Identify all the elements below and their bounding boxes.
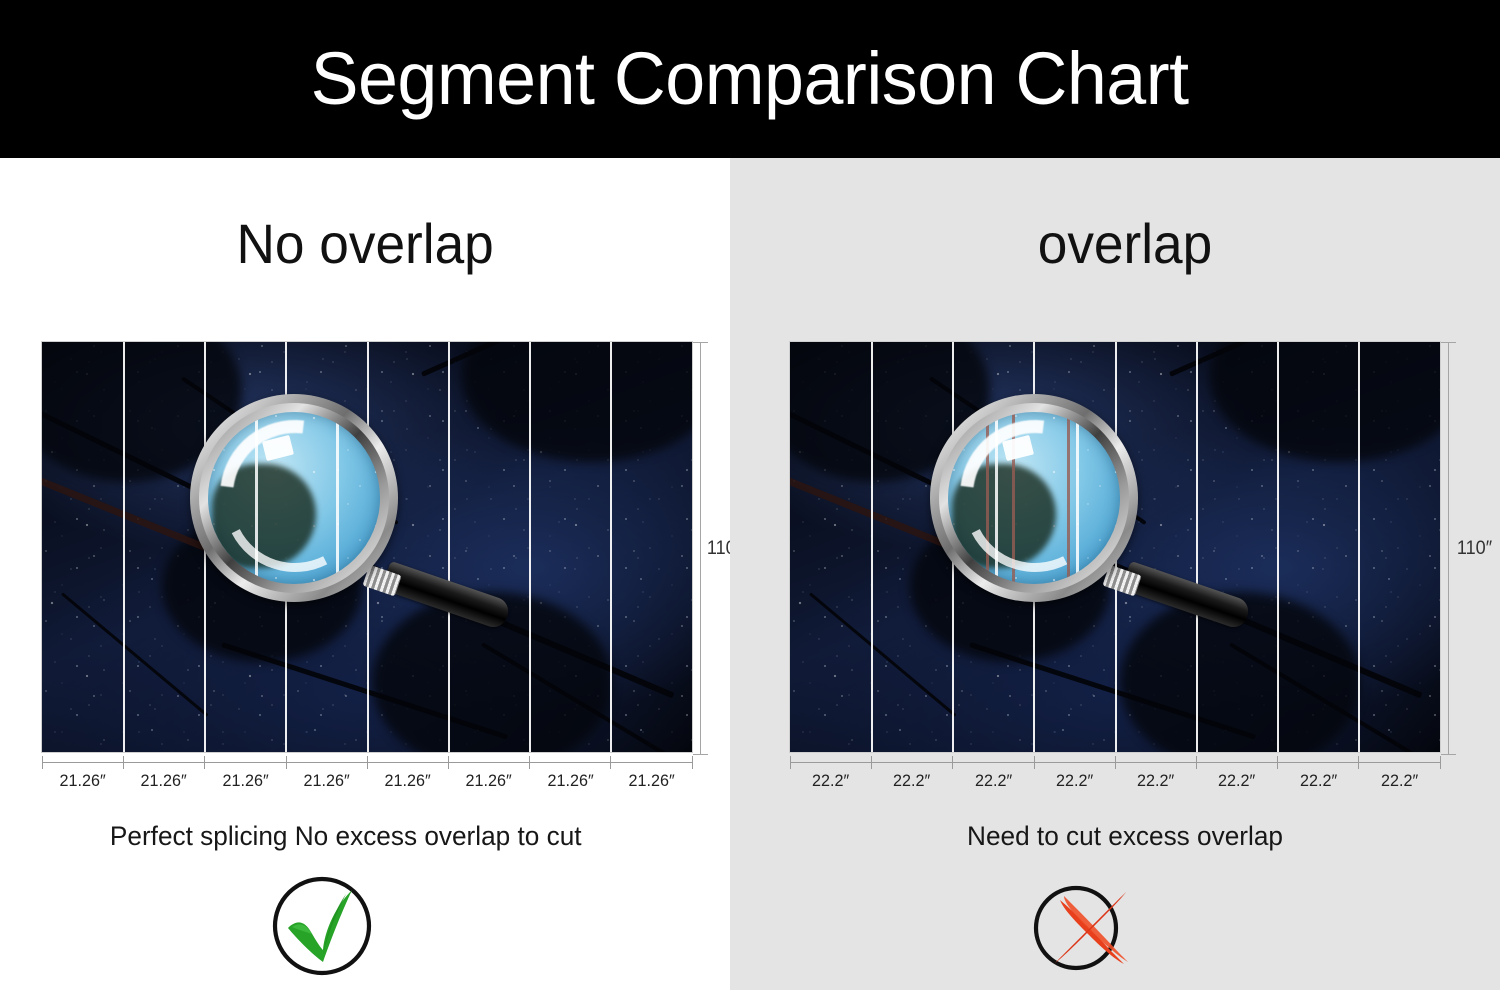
segment-label: 21.26″ [125, 766, 202, 796]
starfield-left [42, 342, 692, 752]
caption-right: Need to cut excess overlap [761, 821, 1489, 852]
page-title: Segment Comparison Chart [311, 42, 1189, 116]
segment-label: 22.2″ [1361, 766, 1438, 796]
dimension-line-vertical-left [700, 342, 701, 754]
segment-label: 22.2″ [1117, 766, 1194, 796]
red-cross-icon [1030, 870, 1142, 982]
title-bar: Segment Comparison Chart [0, 0, 1500, 158]
dimension-line-vertical-right [1448, 342, 1449, 754]
segment-label: 21.26″ [288, 766, 365, 796]
mural-image-right [790, 342, 1440, 752]
segment-label: 21.26″ [369, 766, 446, 796]
segment-label: 21.26″ [44, 766, 121, 796]
segment-label: 21.26″ [207, 766, 284, 796]
panel-no-overlap: No overlap [0, 158, 730, 990]
panel-seams-left [42, 342, 692, 752]
segment-label: 21.26″ [613, 766, 690, 796]
panel-heading-left: No overlap [18, 216, 712, 272]
mural-image-left [42, 342, 692, 752]
segment-label: 22.2″ [1036, 766, 1113, 796]
segment-labels-left: 21.26″ 21.26″ 21.26″ 21.26″ 21.26″ 21.26… [42, 766, 692, 796]
panel-seams-right [790, 342, 1440, 752]
segment-label: 22.2″ [792, 766, 869, 796]
starfield-right [790, 342, 1440, 752]
segment-label: 22.2″ [1280, 766, 1357, 796]
panel-divider [730, 158, 750, 990]
segment-label: 22.2″ [1198, 766, 1275, 796]
segment-label: 22.2″ [873, 766, 950, 796]
height-label-right: 110″ [1457, 538, 1492, 560]
segment-label: 21.26″ [450, 766, 527, 796]
panel-heading-right: overlap [769, 216, 1482, 272]
segment-label: 22.2″ [955, 766, 1032, 796]
comparison-panels: No overlap [0, 158, 1500, 990]
segment-label: 21.26″ [532, 766, 609, 796]
caption-left: Perfect splicing No excess overlap to cu… [11, 821, 719, 852]
panel-overlap: overlap [750, 158, 1500, 990]
comparison-chart-page: Segment Comparison Chart No overlap [0, 0, 1500, 990]
segment-labels-right: 22.2″ 22.2″ 22.2″ 22.2″ 22.2″ 22.2″ 22.2… [790, 766, 1440, 796]
green-check-icon [266, 870, 378, 982]
